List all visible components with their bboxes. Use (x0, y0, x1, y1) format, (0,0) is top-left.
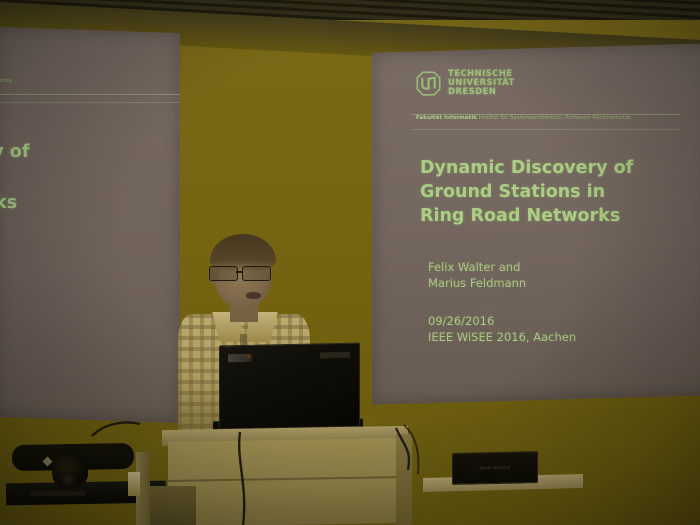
desk-device-label: desk-device (479, 465, 510, 471)
slide-department-rest: Institut für Systemarchitektur, Professu… (479, 115, 631, 121)
av-equipment-slot (30, 491, 86, 496)
presenter-mouth (246, 292, 261, 299)
projection-screen-left: r, Professur Rechnernetze covery of ons … (0, 27, 180, 423)
slide-author-line-1: Felix Walter and (428, 260, 526, 276)
projection-screen-right: TECHNISCHE UNIVERSITÄT DRESDEN Fakultät … (372, 43, 700, 404)
slide-rule-2 (412, 129, 680, 130)
laptop-secondary-logo-icon (320, 352, 350, 359)
desk-device: desk-device (452, 451, 538, 485)
slide-authors: Felix Walter and Marius Feldmann (428, 260, 526, 291)
logo-line-3: DRESDEN (448, 88, 515, 97)
lecture-hall-photo: r, Professur Rechnernetze covery of ons … (0, 0, 700, 525)
equipment-plate (128, 472, 140, 496)
left-slide-title-line-3: etworks (0, 191, 29, 217)
slide-title-line-2: Ground Stations in (420, 180, 633, 204)
slide-venue: IEEE WiSEE 2016, Aachen (428, 330, 576, 346)
floor-cabinet (150, 486, 196, 525)
left-slide-rule-1 (0, 94, 180, 95)
laptop[interactable] (219, 343, 360, 430)
slide-title-line-3: Ring Road Networks (420, 204, 633, 228)
glasses-lens-left (209, 266, 238, 281)
slide-author-line-2: Marius Feldmann (428, 276, 526, 292)
slide-logo-text: TECHNISCHE UNIVERSITÄT DRESDEN (448, 70, 515, 98)
slide-date: 09/26/2016 (428, 314, 576, 330)
slide-department: Fakultät Informatik Institut für Systema… (416, 115, 631, 122)
left-slide-rule-2 (0, 102, 180, 103)
left-slide-department: r, Professur Rechnernetze (0, 78, 12, 85)
lectern-side-panel (396, 434, 412, 525)
tu-dresden-logo-icon (416, 71, 441, 96)
glasses-lens-right (242, 266, 271, 281)
camera-lens-icon (58, 472, 80, 488)
slide-title: Dynamic Discovery of Ground Stations in … (420, 156, 633, 228)
slide-logo-block: TECHNISCHE UNIVERSITÄT DRESDEN (416, 70, 515, 98)
left-slide-title-line-1: covery of (0, 140, 29, 166)
slide-title-line-1: Dynamic Discovery of (420, 156, 633, 180)
slide-date-venue: 09/26/2016 IEEE WiSEE 2016, Aachen (428, 314, 576, 345)
glasses-icon (209, 266, 275, 279)
left-slide-title-line-2: ons in (0, 166, 29, 192)
lectern (168, 438, 404, 525)
slide-department-bold: Fakultät Informatik (416, 115, 477, 121)
